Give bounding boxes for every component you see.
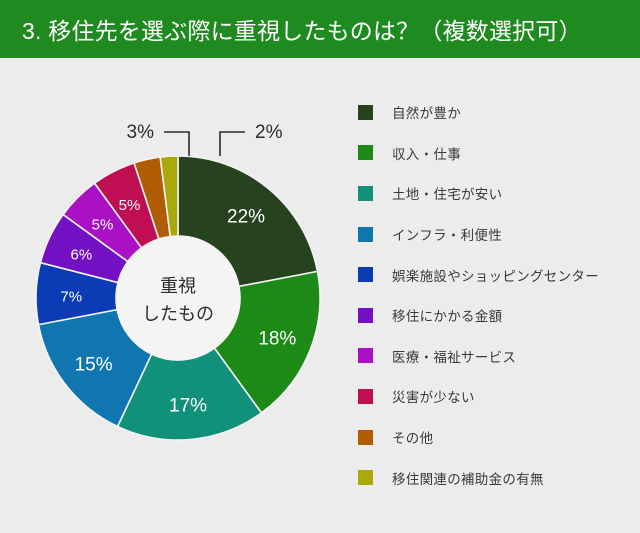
donut-center-line1: 重視	[160, 276, 196, 296]
legend: 自然が豊か 収入・仕事 土地・住宅が安い インフラ・利便性 娯楽施設やショッピン…	[358, 92, 634, 498]
legend-item[interactable]: 災害が少ない	[358, 376, 634, 417]
donut-chart: 22%18%17%15%7%6%5%5% 3% 2% 重視 したもの	[0, 58, 350, 533]
legend-item-label: 収入・仕事	[392, 143, 461, 163]
legend-item-label: 移住関連の補助金の有無	[392, 468, 544, 488]
legend-item-label: インフラ・利便性	[392, 224, 502, 244]
page-title: 3. 移住先を選ぶ際に重視したものは？（複数選択可）	[0, 12, 582, 46]
legend-item-label: 医療・福祉サービス	[392, 346, 516, 366]
legend-swatch-icon	[358, 227, 373, 242]
legend-item[interactable]: 娯楽施設やショッピングセンター	[358, 254, 634, 295]
donut-slice-label: 17%	[169, 395, 207, 416]
legend-item[interactable]: 自然が豊か	[358, 92, 634, 133]
legend-swatch-icon	[358, 430, 373, 445]
legend-item-label: 災害が少ない	[392, 386, 475, 406]
legend-item-label: 移住にかかる金額	[392, 305, 502, 325]
donut-slice-label: 7%	[60, 289, 82, 306]
donut-center-line2: したもの	[142, 304, 214, 324]
donut-slice-label: 15%	[75, 354, 113, 375]
header-bar: 3. 移住先を選ぶ際に重視したものは？（複数選択可）	[0, 0, 640, 58]
donut-slice-label: 18%	[258, 328, 296, 349]
legend-item[interactable]: 移住関連の補助金の有無	[358, 457, 634, 498]
legend-swatch-icon	[358, 267, 373, 282]
donut-slice-label: 22%	[227, 207, 265, 228]
legend-swatch-icon	[358, 308, 373, 323]
legend-item-label: 娯楽施設やショッピングセンター	[392, 265, 599, 285]
donut-slice-label: 5%	[92, 216, 114, 233]
donut-hole	[116, 236, 240, 360]
content-area: 22%18%17%15%7%6%5%5% 3% 2% 重視 したもの 自然が豊か…	[0, 58, 640, 533]
legend-item-label: 自然が豊か	[392, 102, 461, 122]
legend-item[interactable]: 収入・仕事	[358, 133, 634, 174]
legend-swatch-icon	[358, 348, 373, 363]
leader-line-2pct	[220, 132, 245, 156]
legend-swatch-icon	[358, 389, 373, 404]
legend-item[interactable]: 医療・福祉サービス	[358, 336, 634, 377]
donut-chart-svg: 22%18%17%15%7%6%5%5% 3% 2% 重視 したもの	[8, 70, 350, 490]
legend-item-label: その他	[392, 427, 433, 447]
legend-swatch-icon	[358, 105, 373, 120]
donut-slice-label: 5%	[119, 197, 141, 214]
legend-item-label: 土地・住宅が安い	[392, 183, 502, 203]
legend-item[interactable]: インフラ・利便性	[358, 214, 634, 255]
legend-item[interactable]: 移住にかかる金額	[358, 295, 634, 336]
legend-swatch-icon	[358, 145, 373, 160]
legend-swatch-icon	[358, 470, 373, 485]
outer-label-3pct: 3%	[127, 122, 155, 143]
donut-slice-label: 6%	[71, 247, 93, 264]
legend-swatch-icon	[358, 186, 373, 201]
leader-line-3pct	[164, 132, 189, 156]
legend-item[interactable]: 土地・住宅が安い	[358, 173, 634, 214]
legend-item[interactable]: その他	[358, 417, 634, 458]
outer-label-2pct: 2%	[255, 122, 283, 143]
